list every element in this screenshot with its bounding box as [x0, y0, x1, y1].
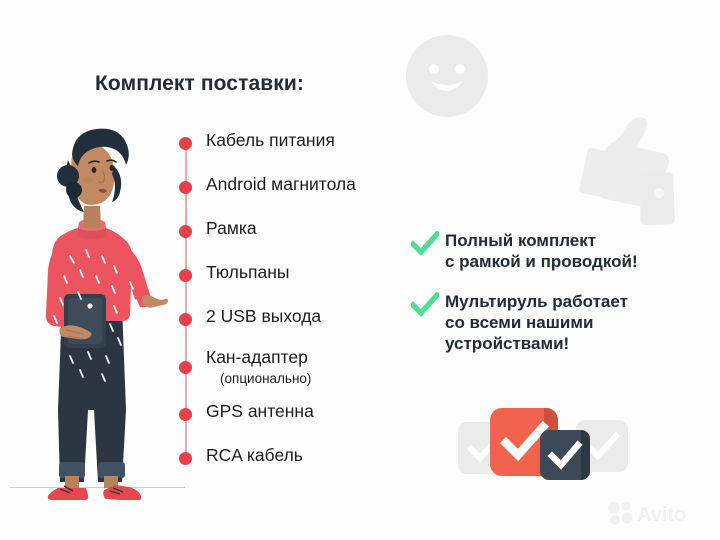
list-item: Android магнитола	[176, 176, 426, 220]
feature-line: Мультируль работает	[445, 291, 628, 312]
list-item-label: RCA кабель	[206, 447, 303, 465]
bullet-dot-icon	[179, 269, 192, 282]
poster-canvas: Комплект поставки: Кабель питания Androi…	[0, 0, 720, 540]
list-item-label: Тюльпаны	[206, 264, 289, 282]
list-item-sublabel: (опционально)	[220, 372, 426, 386]
list-item: Кан-адаптер (опционально)	[176, 349, 426, 403]
list-item: Рамка	[176, 220, 426, 264]
bullet-dot-icon	[179, 181, 192, 194]
feature-highlight-row: Мультируль работает со всеми нашими устр…	[411, 291, 638, 355]
list-item-label: GPS антенна	[206, 403, 314, 421]
feature-line: с рамкой и проводкой!	[445, 251, 638, 272]
bullet-dot-icon	[179, 313, 192, 326]
feature-line: со всеми нашими	[445, 312, 628, 333]
list-item: RCA кабель	[176, 447, 426, 487]
list-item: Кабель питания	[176, 132, 426, 176]
feature-line: устройствами!	[445, 333, 628, 354]
feature-highlight-text: Мультируль работает со всеми нашими устр…	[445, 291, 628, 355]
list-item-label: Кан-адаптер	[206, 349, 426, 367]
list-item-label: Кабель питания	[206, 132, 335, 150]
green-check-icon	[411, 231, 439, 257]
delivery-contents-list: Кабель питания Android магнитола Рамка Т…	[176, 132, 426, 487]
feature-highlight-row: Полный комплект с рамкой и проводкой!	[411, 230, 638, 273]
list-item: GPS антенна	[176, 403, 426, 447]
avito-wordmark: Avito	[637, 504, 686, 526]
list-item: 2 USB выхода	[176, 308, 426, 349]
bullet-dot-icon	[179, 361, 192, 374]
bullet-dot-icon	[179, 225, 192, 238]
green-check-icon	[411, 292, 439, 318]
smiley-face-icon	[404, 33, 490, 119]
bullet-dot-icon	[179, 452, 192, 465]
check-card-dark	[540, 430, 590, 480]
bullet-dot-icon	[179, 408, 192, 421]
check-cards-decoration	[458, 408, 628, 480]
list-item-label: Рамка	[206, 220, 257, 238]
list-item: Тюльпаны	[176, 264, 426, 308]
feature-line: Полный комплект	[445, 230, 638, 251]
bullet-dot-icon	[179, 137, 192, 150]
list-item-label: 2 USB выхода	[206, 308, 321, 326]
avito-watermark: Avito	[606, 498, 702, 528]
list-item-label: Android магнитола	[206, 176, 356, 194]
woman-pointing-illustration	[18, 110, 168, 500]
page-title: Комплект поставки:	[95, 72, 304, 96]
check-icon	[540, 430, 590, 480]
thumbs-up-icon	[572, 108, 684, 226]
feature-highlights: Полный комплект с рамкой и проводкой! Му…	[411, 230, 638, 372]
feature-highlight-text: Полный комплект с рамкой и проводкой!	[445, 230, 638, 273]
